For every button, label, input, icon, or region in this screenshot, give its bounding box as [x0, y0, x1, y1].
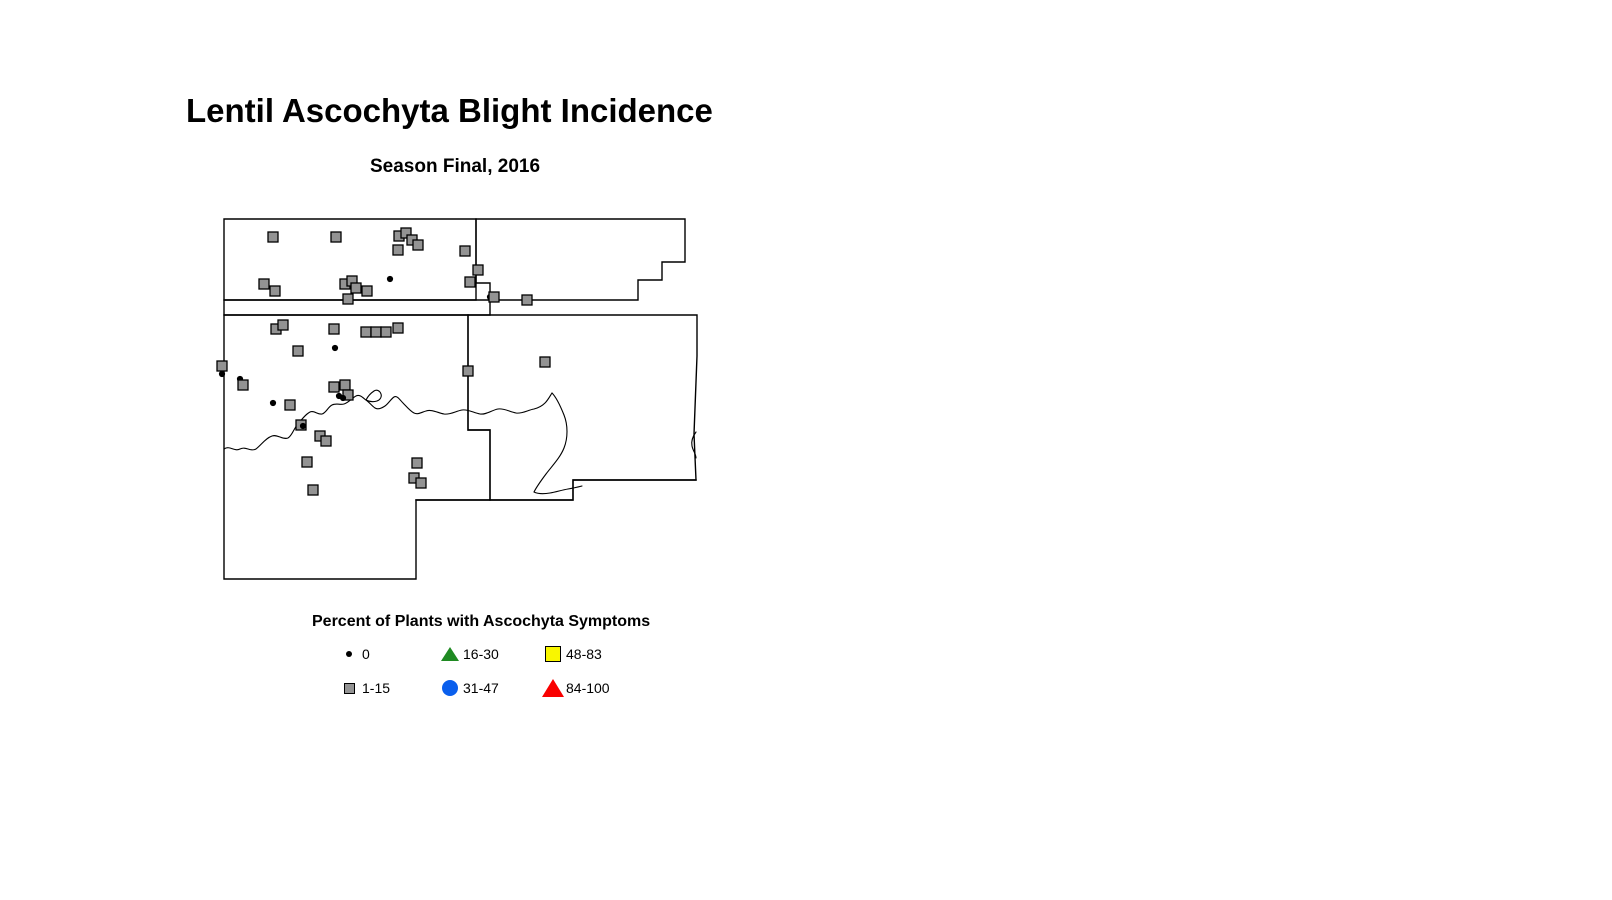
map-data-point — [329, 382, 339, 392]
map-data-point — [278, 320, 288, 330]
legend-item-label: 48-83 — [566, 646, 602, 662]
map-data-point — [362, 286, 372, 296]
triangle-red-icon — [540, 679, 566, 697]
map-svg — [200, 200, 760, 620]
circle-blue-icon — [437, 680, 463, 696]
county-boundaries — [224, 219, 697, 579]
map-data-point — [329, 324, 339, 334]
data-points-layer — [217, 228, 550, 495]
map-data-point — [489, 292, 499, 302]
legend-item-48-83[interactable]: 48-83 — [540, 643, 602, 665]
boundary-central-west — [224, 300, 490, 315]
square-gray-icon — [336, 683, 362, 694]
map-data-point — [343, 294, 353, 304]
square-yellow-icon — [540, 646, 566, 662]
map-data-point — [371, 327, 381, 337]
map-data-point — [302, 457, 312, 467]
map-data-point — [332, 345, 338, 351]
page-title: Lentil Ascochyta Blight Incidence — [186, 92, 713, 130]
triangle-red-glyph — [542, 679, 564, 697]
map-data-point — [473, 265, 483, 275]
map-data-point — [340, 380, 350, 390]
dot-black-glyph — [346, 651, 352, 657]
map-data-point — [285, 400, 295, 410]
map-data-point — [270, 400, 276, 406]
map-data-point — [308, 485, 318, 495]
map-data-point — [393, 245, 403, 255]
map-data-point — [293, 346, 303, 356]
map-page: Lentil Ascochyta Blight Incidence Season… — [0, 0, 1612, 900]
legend-item-31-47[interactable]: 31-47 — [437, 677, 499, 699]
map-data-point — [340, 395, 346, 401]
map-data-point — [465, 277, 475, 287]
legend-item-16-30[interactable]: 16-30 — [437, 643, 499, 665]
map-data-point — [268, 232, 278, 242]
map-data-point — [460, 246, 470, 256]
map-data-point — [331, 232, 341, 242]
boundary-ne-county — [476, 219, 685, 300]
map-data-point — [217, 361, 227, 371]
legend-title: Percent of Plants with Ascochyta Symptom… — [312, 613, 650, 631]
legend-item-label: 0 — [362, 646, 370, 662]
map-data-point — [259, 279, 269, 289]
map-data-point — [522, 295, 532, 305]
map-data-point — [351, 283, 361, 293]
legend-item-label: 31-47 — [463, 680, 499, 696]
map-figure — [200, 200, 760, 620]
legend-item-label: 1-15 — [362, 680, 390, 696]
map-data-point — [540, 357, 550, 367]
circle-blue-glyph — [442, 680, 458, 696]
legend-item-84-100[interactable]: 84-100 — [540, 677, 610, 699]
map-data-point — [219, 371, 225, 377]
square-gray-glyph — [344, 683, 355, 694]
boundary-southwest-block — [224, 315, 490, 579]
dot-black-icon — [336, 651, 362, 657]
map-data-point — [463, 366, 473, 376]
boundary-east-county — [468, 315, 697, 500]
triangle-green-icon — [437, 647, 463, 661]
square-yellow-glyph — [545, 646, 561, 662]
map-data-point — [387, 276, 393, 282]
map-data-point — [361, 327, 371, 337]
legend-item-label: 84-100 — [566, 680, 610, 696]
map-data-point — [321, 436, 331, 446]
map-data-point — [412, 458, 422, 468]
legend-item-0[interactable]: 0 — [336, 643, 370, 665]
map-data-point — [416, 478, 426, 488]
map-data-point — [270, 286, 280, 296]
page-subtitle: Season Final, 2016 — [370, 156, 540, 178]
map-data-point — [238, 380, 248, 390]
map-data-point — [381, 327, 391, 337]
map-data-point — [413, 240, 423, 250]
triangle-green-glyph — [441, 647, 459, 661]
legend-item-label: 16-30 — [463, 646, 499, 662]
map-data-point — [300, 423, 306, 429]
legend-item-1-15[interactable]: 1-15 — [336, 677, 390, 699]
boundary-south-step — [416, 480, 696, 500]
map-data-point — [393, 323, 403, 333]
